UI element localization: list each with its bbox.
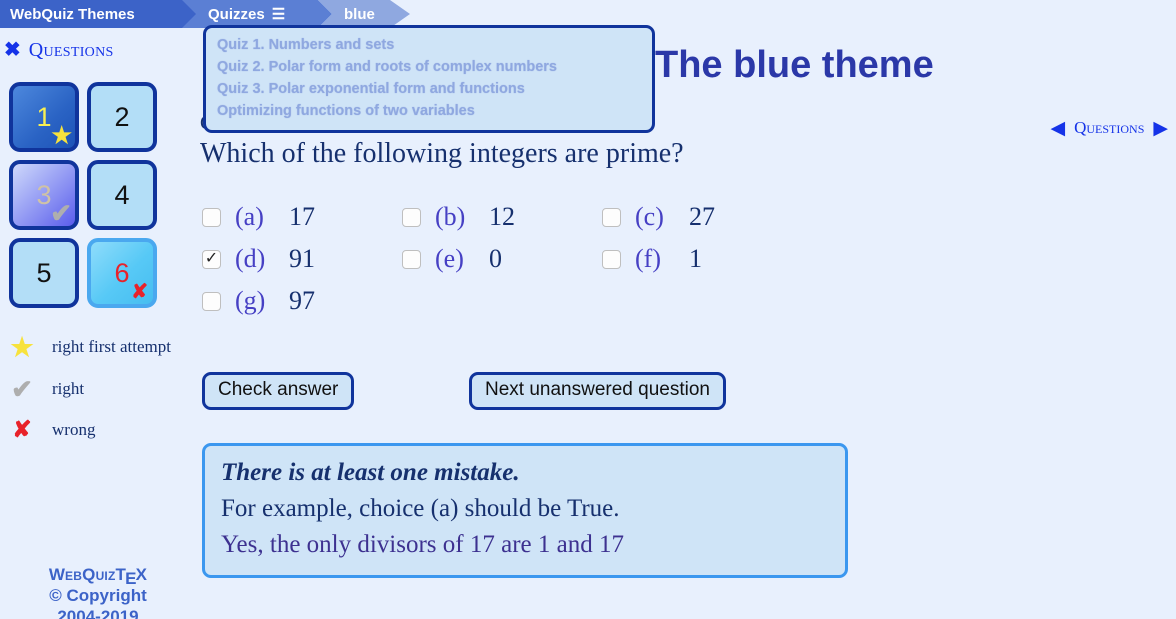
choices-list: (a) 17 (b) 12 (c) 27 ✓ (d) 91: [202, 202, 802, 328]
question-button-number: 2: [114, 102, 129, 133]
feedback-line-3: Yes, the only divisors of 17 are 1 and 1…: [221, 527, 829, 563]
questions-nav-label: Questions: [1074, 118, 1144, 138]
legend-row-right-first: ★ right first attempt: [8, 334, 196, 360]
choice-label: (d): [235, 244, 289, 274]
checkbox-e[interactable]: [402, 250, 421, 269]
question-button-2[interactable]: 2: [87, 82, 157, 152]
breadcrumb-item-themes[interactable]: WebQuiz Themes: [0, 0, 196, 28]
choice-value: 97: [289, 286, 315, 316]
breadcrumb: WebQuiz Themes Quizzes ☰ blue: [0, 0, 1176, 28]
breadcrumb-item-quizzes[interactable]: Quizzes ☰: [182, 0, 332, 28]
breadcrumb-label-themes: WebQuiz Themes: [10, 6, 135, 23]
hamburger-icon[interactable]: ☰: [272, 7, 285, 22]
question-grid: 1 ★ 2 3 ✔ 4 5 6 ✘: [9, 82, 196, 308]
legend-row-right: ✔ right: [8, 376, 196, 402]
menu-item-optimizing[interactable]: Optimizing functions of two variables: [217, 100, 652, 122]
checkbox-g[interactable]: [202, 292, 221, 311]
choice-value: 0: [489, 244, 502, 274]
choice-label: (b): [435, 202, 489, 232]
copyright-text: © Copyright: [0, 585, 196, 606]
question-text: Which of the following integers are prim…: [200, 138, 684, 170]
choice-e[interactable]: (e) 0: [402, 244, 602, 274]
cross-icon: ✘: [8, 418, 36, 441]
sidebar-title: Questions: [29, 39, 114, 62]
brand-x: X: [136, 565, 148, 584]
feedback-box: There is at least one mistake. For examp…: [202, 443, 848, 578]
choice-value: 91: [289, 244, 315, 274]
quiz-dropdown-menu[interactable]: Quiz 1. Numbers and sets Quiz 2. Polar f…: [203, 25, 655, 133]
check-icon: ✔: [8, 376, 36, 402]
check-icon: ✔: [50, 200, 72, 226]
choice-label: (f): [635, 244, 689, 274]
sidebar-header: ✖ Questions: [0, 34, 196, 66]
quiz-page: WebQuiz Themes Quizzes ☰ blue Quiz 1. Nu…: [0, 0, 1176, 619]
question-button-3[interactable]: 3 ✔: [9, 160, 79, 230]
question-button-number: 6: [114, 258, 129, 289]
checkbox-d[interactable]: ✓: [202, 250, 221, 269]
choice-label: (g): [235, 286, 289, 316]
choice-value: 1: [689, 244, 702, 274]
star-icon: ★: [8, 334, 36, 360]
choice-d[interactable]: ✓ (d) 91: [202, 244, 402, 274]
menu-item-quiz-1[interactable]: Quiz 1. Numbers and sets: [217, 34, 652, 56]
checkbox-f[interactable]: [602, 250, 621, 269]
brand-logo: WebQuizTEX: [0, 564, 196, 585]
choice-c[interactable]: (c) 27: [602, 202, 802, 232]
choice-value: 12: [489, 202, 515, 232]
choice-value: 17: [289, 202, 315, 232]
brand-web: Web: [49, 565, 82, 584]
choice-row: (a) 17 (b) 12 (c) 27: [202, 202, 802, 232]
question-button-5[interactable]: 5: [9, 238, 79, 308]
checkbox-b[interactable]: [402, 208, 421, 227]
legend-label: right first attempt: [52, 337, 171, 357]
choice-row: (g) 97: [202, 286, 802, 316]
copyright-years: 2004-2019: [0, 606, 196, 619]
cross-icon: ✘: [131, 282, 148, 302]
brand-e: E: [125, 568, 137, 589]
feedback-line-2: For example, choice (a) should be True.: [221, 491, 829, 527]
footer: WebQuizTEX © Copyright 2004-2019: [0, 564, 196, 619]
page-title: The blue theme: [655, 44, 934, 87]
checkbox-a[interactable]: [202, 208, 221, 227]
prev-question-icon[interactable]: ◀: [1050, 119, 1065, 138]
question-button-6[interactable]: 6 ✘: [87, 238, 157, 308]
choice-a[interactable]: (a) 17: [202, 202, 402, 232]
menu-item-quiz-2[interactable]: Quiz 2. Polar form and roots of complex …: [217, 56, 652, 78]
choice-label: (c): [635, 202, 689, 232]
question-button-number: 4: [114, 180, 129, 211]
question-button-number: 1: [36, 102, 51, 133]
checkbox-c[interactable]: [602, 208, 621, 227]
next-question-icon[interactable]: ▶: [1153, 119, 1168, 138]
legend-label: right: [52, 379, 84, 399]
star-icon: ★: [51, 124, 72, 147]
question-button-number: 5: [36, 258, 51, 289]
close-icon[interactable]: ✖: [4, 40, 21, 60]
question-button-4[interactable]: 4: [87, 160, 157, 230]
legend: ★ right first attempt ✔ right ✘ wrong: [8, 334, 196, 441]
menu-item-quiz-3[interactable]: Quiz 3. Polar exponential form and funct…: [217, 78, 652, 100]
choice-row: ✓ (d) 91 (e) 0 (f) 1: [202, 244, 802, 274]
check-answer-button[interactable]: Check answer: [202, 372, 354, 410]
breadcrumb-label-quizzes: Quizzes: [208, 6, 265, 23]
choice-label: (a): [235, 202, 289, 232]
brand-quiz: Quiz: [82, 565, 115, 584]
question-button-1[interactable]: 1 ★: [9, 82, 79, 152]
choice-value: 27: [689, 202, 715, 232]
next-unanswered-question-button[interactable]: Next unanswered question: [469, 372, 726, 410]
feedback-line-1: There is at least one mistake.: [221, 455, 829, 491]
legend-row-wrong: ✘ wrong: [8, 418, 196, 441]
breadcrumb-label-blue: blue: [344, 6, 375, 23]
questions-nav: ◀ Questions ▶: [1050, 118, 1168, 138]
choice-label: (e): [435, 244, 489, 274]
sidebar: ✖ Questions 1 ★ 2 3 ✔ 4 5 6 ✘: [0, 34, 196, 457]
choice-f[interactable]: (f) 1: [602, 244, 802, 274]
legend-label: wrong: [52, 420, 95, 440]
choice-b[interactable]: (b) 12: [402, 202, 602, 232]
choice-g[interactable]: (g) 97: [202, 286, 405, 316]
